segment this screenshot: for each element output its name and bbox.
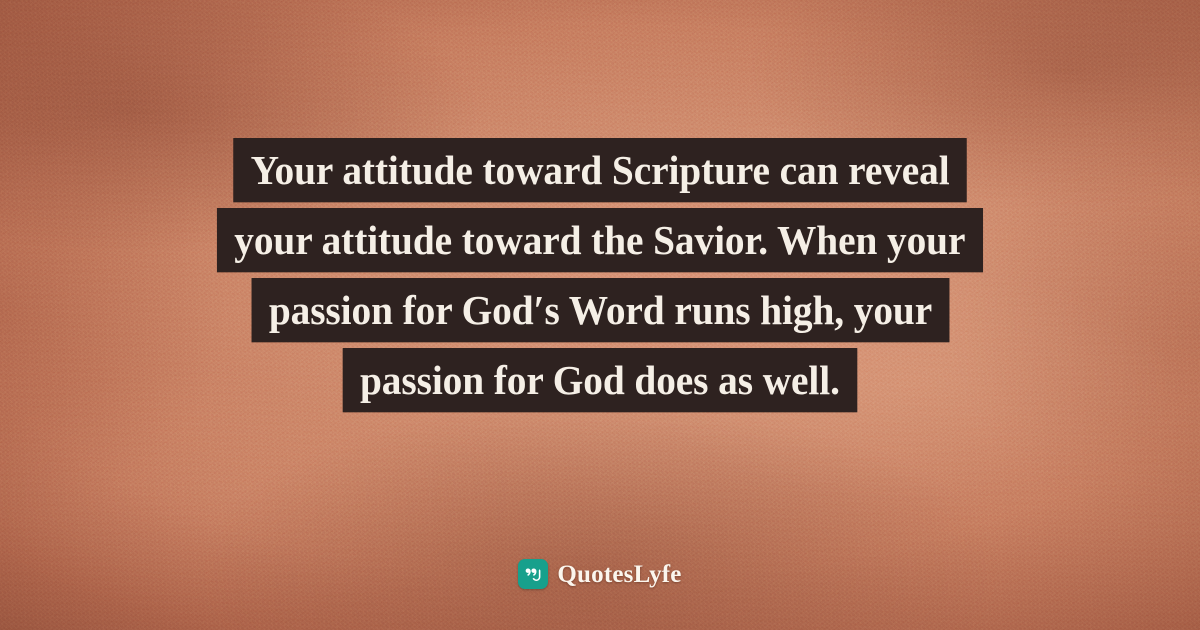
brand-logo: QuotesLyfe: [0, 559, 1200, 589]
quote-text-block: Your attitude toward Scripture can revea…: [0, 138, 1200, 412]
quote-line: passion for God does as well.: [343, 348, 857, 412]
quote-line: passion for God′s Word runs high, your: [251, 278, 949, 342]
quote-card: Your attitude toward Scripture can revea…: [0, 0, 1200, 630]
quote-line: Your attitude toward Scripture can revea…: [233, 138, 967, 202]
quote-mark-icon: [518, 559, 548, 589]
brand-name: QuotesLyfe: [557, 562, 681, 587]
quote-line: your attitude toward the Savior. When yo…: [217, 208, 983, 272]
